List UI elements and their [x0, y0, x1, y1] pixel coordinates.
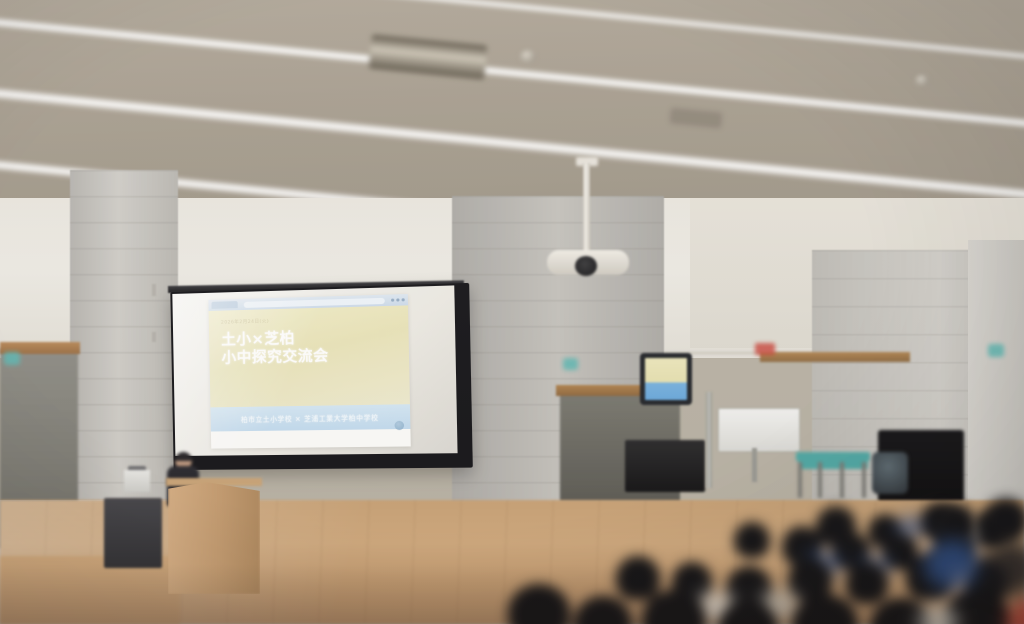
confidence-monitor-screen [645, 358, 687, 400]
photo-scene: 2026年2月24日(火) 土小×芝柏 小中探究交流会 柏市立土小学校 × 芝浦… [0, 0, 1024, 624]
slide-title-line-2: 小中探究交流会 [221, 347, 409, 369]
confidence-monitor [640, 353, 692, 405]
teal-object-icon [4, 352, 20, 365]
ceiling-speaker-icon [915, 75, 929, 86]
ceiling-speaker-icon [520, 50, 536, 63]
slide-subtitle-band: 柏市立土小学校 × 芝浦工業大学柏中学校 [210, 404, 410, 431]
audience-uniform-accent [924, 540, 980, 590]
browser-menu-dot-icon[interactable] [402, 298, 405, 301]
wooden-podium [168, 482, 260, 594]
slide-body: 2026年2月24日(火) 土小×芝柏 小中探究交流会 [209, 305, 410, 407]
browser-tab[interactable] [211, 301, 237, 309]
stacked-teal-chairs [796, 448, 876, 492]
slide-title: 土小×芝柏 小中探究交流会 [221, 328, 409, 369]
audience-head [734, 522, 770, 558]
slide-footer [211, 429, 411, 449]
screen-surface: 2026年2月24日(火) 土小×芝柏 小中探究交流会 柏市立土小学校 × 芝浦… [172, 285, 457, 456]
audience-head [936, 504, 976, 544]
piano-stool [872, 452, 908, 494]
audience-head [984, 498, 1024, 540]
wheeled-whiteboard [718, 408, 800, 452]
slide-title-line-1: 土小×芝柏 [221, 331, 295, 349]
screen-mount-rod [152, 332, 156, 342]
whiteboard-pole [706, 392, 712, 488]
chair-leg [818, 462, 822, 498]
red-object-icon [755, 343, 775, 355]
school-logo-mark-icon [394, 421, 404, 430]
slide-date: 2026年2月24日(火) [221, 315, 408, 326]
projector-pole [583, 163, 590, 255]
browser-menu-dot-icon[interactable] [391, 299, 394, 302]
av-cabinet-paper [124, 470, 150, 492]
teal-object-icon [988, 344, 1004, 357]
screen-mount-rod [152, 284, 156, 296]
av-equipment-cabinet [104, 498, 162, 568]
audience-head [574, 596, 632, 624]
chair-leg [798, 462, 802, 498]
chair-leg [862, 462, 866, 498]
audience-head [846, 562, 888, 604]
av-console [625, 440, 705, 492]
projector-lens-icon [575, 256, 597, 276]
slide-subtitle: 柏市立土小学校 × 芝浦工業大学柏中学校 [241, 412, 379, 424]
wooden-ledge-right [760, 352, 910, 362]
student-audience-right [930, 496, 1024, 624]
teal-object-icon [563, 358, 578, 370]
browser-menu-dot-icon[interactable] [396, 298, 399, 301]
projection-screen: 2026年2月24日(火) 土小×芝柏 小中探究交流会 柏市立土小学校 × 芝浦… [170, 283, 473, 470]
audience-head [616, 556, 660, 600]
audience-uniform-accent [982, 540, 1024, 596]
chair-seat [798, 460, 868, 469]
whiteboard-stand [752, 448, 757, 482]
projected-slide-window: 2026年2月24日(火) 土小×芝柏 小中探究交流会 柏市立土小学校 × 芝浦… [208, 294, 410, 449]
chair-leg [840, 462, 844, 498]
